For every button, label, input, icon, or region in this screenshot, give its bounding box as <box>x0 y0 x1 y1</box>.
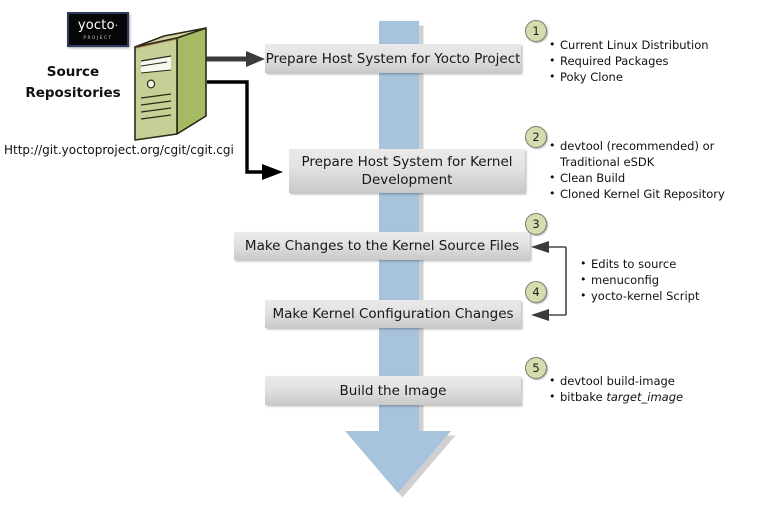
process-box-prepare-host-kernel[interactable]: Prepare Host System for Kernel Developme… <box>289 149 525 193</box>
note-item: Current Linux Distribution <box>549 37 764 53</box>
source-repositories-label: Source Repositories <box>8 62 138 104</box>
yocto-project-logo: yocto· PROJECT <box>67 12 129 47</box>
step-number-badge-3: 3 <box>525 213 547 235</box>
notes-step-5: devtool build-image bitbake target_image <box>549 373 764 405</box>
box-2-label: Prepare Host System for Kernel Developme… <box>301 153 512 189</box>
connector-notes-to-box3-box4 <box>548 247 566 315</box>
notes-step-1: Current Linux Distribution Required Pack… <box>549 37 764 85</box>
box-2-label-line1: Prepare Host System for Kernel <box>301 154 512 170</box>
box-5-label: Build the Image <box>340 382 447 400</box>
note-item: devtool build-image <box>549 373 764 389</box>
note-item: Poky Clone <box>549 69 764 85</box>
arrowhead-box3 <box>531 241 549 253</box>
box-3-label: Make Changes to the Kernel Source Files <box>245 237 519 255</box>
note-item-line2: Traditional eSDK <box>560 154 764 170</box>
step-3-number: 3 <box>532 217 539 231</box>
connector-server-to-box2-head <box>262 164 283 180</box>
notes-step-2: devtool (recommended) or Traditional eSD… <box>549 138 764 202</box>
step-number-badge-1: 1 <box>525 20 547 42</box>
yocto-logo-wordmark: yocto· <box>78 19 118 33</box>
connector-server-to-box1 <box>206 51 265 67</box>
server-tower-icon <box>131 26 207 142</box>
notes-steps-3-and-4: Edits to source menuconfig yocto-kernel … <box>580 256 765 304</box>
note-item-line1: devtool (recommended) or <box>560 139 714 153</box>
step-4-number: 4 <box>532 285 539 299</box>
note-item: bitbake target_image <box>549 389 764 405</box>
step-2-number: 2 <box>532 130 539 144</box>
box-4-label: Make Kernel Configuration Changes <box>272 305 513 323</box>
process-box-make-kernel-source-changes[interactable]: Make Changes to the Kernel Source Files <box>234 232 530 260</box>
step-1-number: 1 <box>532 24 539 38</box>
step-5-number: 5 <box>532 361 539 375</box>
note-item: Cloned Kernel Git Repository <box>549 186 764 202</box>
step-number-badge-2: 2 <box>525 126 547 148</box>
box-1-label: Prepare Host System for Yocto Project <box>266 50 521 68</box>
repository-url: Http://git.yoctoproject.org/cgit/cgit.cg… <box>4 143 234 157</box>
note-item: menuconfig <box>580 272 765 288</box>
arrowhead-box4 <box>531 309 549 321</box>
note-item: Required Packages <box>549 53 764 69</box>
note-item-italic: target_image <box>606 390 683 404</box>
source-label-line2: Repositories <box>8 83 138 104</box>
process-box-build-the-image[interactable]: Build the Image <box>265 376 521 405</box>
connector-server-to-box2 <box>207 82 264 172</box>
note-item: devtool (recommended) or Traditional eSD… <box>549 138 764 170</box>
note-item: Clean Build <box>549 170 764 186</box>
diagram-canvas: yocto· PROJECT Source Repositories Http:… <box>0 0 769 517</box>
yocto-logo-subtitle: PROJECT <box>83 34 112 41</box>
process-box-make-kernel-config-changes[interactable]: Make Kernel Configuration Changes <box>265 300 521 328</box>
step-number-badge-4: 4 <box>525 281 547 303</box>
note-item: Edits to source <box>580 256 765 272</box>
note-item-prefix: bitbake <box>560 390 606 404</box>
note-item: yocto-kernel Script <box>580 288 765 304</box>
source-label-line1: Source <box>8 62 138 83</box>
step-number-badge-5: 5 <box>525 357 547 379</box>
process-box-prepare-host-yocto[interactable]: Prepare Host System for Yocto Project <box>265 44 521 73</box>
box-2-label-line2: Development <box>362 172 453 188</box>
